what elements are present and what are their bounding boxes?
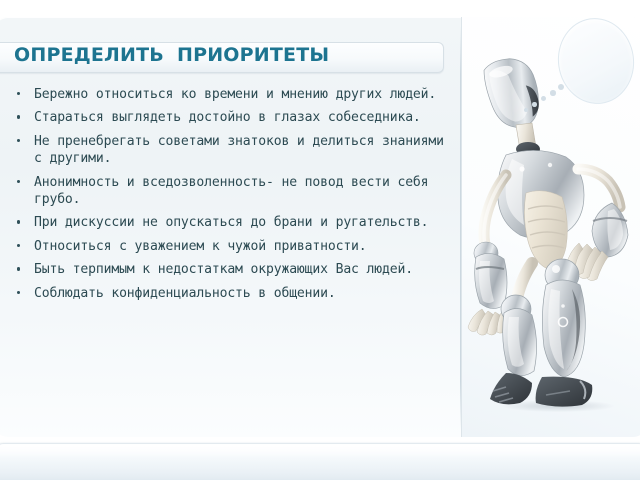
bullet-marker-icon <box>17 244 20 247</box>
list-item-text: Не пренебрегать советами знатоков и дели… <box>34 133 454 168</box>
list-item: Относиться с уважением к чужой приватнос… <box>12 238 454 255</box>
list-item: Не пренебрегать советами знатоков и дели… <box>12 133 454 168</box>
title-word-1: ОПРЕДЕЛИТЬ <box>14 44 164 66</box>
list-item-text: При дискуссии не опускаться до брани и р… <box>34 214 454 231</box>
bullet-marker-icon <box>17 139 20 142</box>
list-item: Соблюдать конфиденциальность в общении. <box>12 285 454 302</box>
list-item: Стараться выглядеть достойно в глазах со… <box>12 109 454 126</box>
list-item-text: Стараться выглядеть достойно в глазах со… <box>34 109 454 126</box>
list-item-text: Быть терпимым к недостаткам окружающих В… <box>34 261 454 278</box>
list-item: Анонимность и вседозволенность- не повод… <box>12 174 454 209</box>
footer-gloss <box>0 445 640 458</box>
bullet-marker-icon <box>17 180 20 183</box>
bullet-list: Бережно относиться ко времени и мнению д… <box>12 86 454 308</box>
list-item: Быть терпимым к недостаткам окружающих В… <box>12 261 454 278</box>
list-item: При дискуссии не опускаться до брани и р… <box>12 214 454 231</box>
list-item-text: Относиться с уважением к чужой приватнос… <box>34 238 454 255</box>
bullet-marker-icon <box>17 115 20 118</box>
slide-canvas: ОПРЕДЕЛИТЬПРИОРИТЕТЫ Бережно относиться … <box>0 0 640 480</box>
title-word-2: ПРИОРИТЕТЫ <box>177 44 329 66</box>
page-title: ОПРЕДЕЛИТЬПРИОРИТЕТЫ <box>14 44 444 66</box>
list-item-text: Бережно относиться ко времени и мнению д… <box>34 86 454 103</box>
footer-bar <box>0 443 640 480</box>
list-item: Бережно относиться ко времени и мнению д… <box>12 86 454 103</box>
bullet-marker-icon <box>17 220 20 223</box>
bullet-marker-icon <box>17 92 20 95</box>
bullet-marker-icon <box>17 291 20 294</box>
bullet-marker-icon <box>17 267 20 270</box>
list-item-text: Анонимность и вседозволенность- не повод… <box>34 174 454 209</box>
list-item-text: Соблюдать конфиденциальность в общении. <box>34 285 454 302</box>
